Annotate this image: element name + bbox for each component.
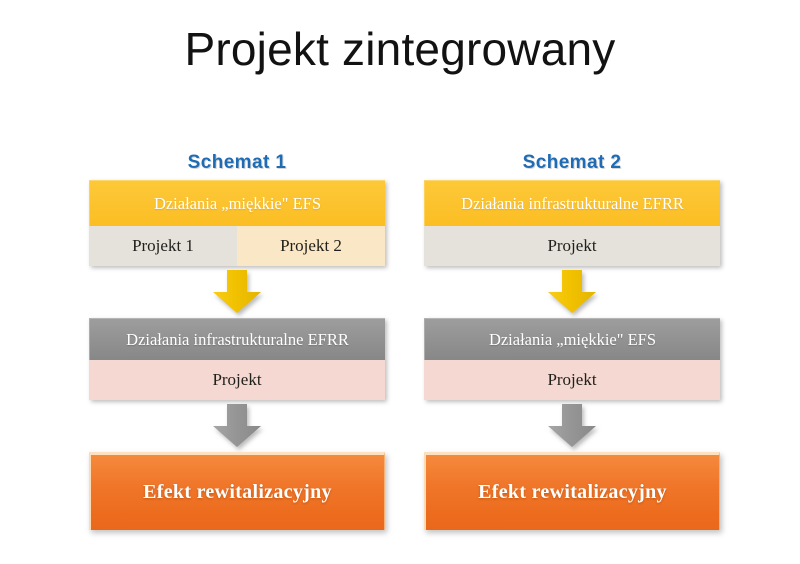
schema-2-arrow-2-wrap [424, 400, 720, 452]
schema-1-heading: Schemat 1 [89, 150, 385, 180]
project-cell: Projekt [424, 226, 720, 266]
schema-2-stage-2: Działania „miękkie" EFS Projekt [424, 318, 720, 400]
schema-1-stage-1-projects: Projekt 1 Projekt 2 [89, 226, 385, 266]
down-arrow-icon [211, 270, 263, 314]
down-arrow-icon [546, 404, 598, 448]
schema-2-stage-1-projects: Projekt [424, 226, 720, 266]
project-cell: Projekt [89, 360, 385, 400]
schema-1-stage-2-action-bar: Działania infrastrukturalne EFRR [89, 318, 385, 360]
schema-2-arrow-1-wrap [424, 266, 720, 318]
schema-1-stage-2: Działania infrastrukturalne EFRR Projekt [89, 318, 385, 400]
schema-column-2: Schemat 2 Działania infrastrukturalne EF… [424, 150, 720, 532]
schema-2-stage-1: Działania infrastrukturalne EFRR Projekt [424, 180, 720, 266]
project-cell: Projekt [424, 360, 720, 400]
schema-1-stage-2-projects: Projekt [89, 360, 385, 400]
page-title: Projekt zintegrowany [0, 22, 800, 76]
schema-2-heading: Schemat 2 [424, 150, 720, 180]
schema-1-result-bar: Efekt rewitalizacyjny [89, 452, 385, 530]
schema-1-result-wrap: Efekt rewitalizacyjny [89, 452, 385, 532]
down-arrow-icon [546, 270, 598, 314]
schema-1-arrow-2-wrap [89, 400, 385, 452]
schema-1-stage-1-action-bar: Działania „miękkie" EFS [89, 180, 385, 226]
schema-1-stage-1: Działania „miękkie" EFS Projekt 1 Projek… [89, 180, 385, 266]
schema-2-stage-2-action-bar: Działania „miękkie" EFS [424, 318, 720, 360]
schema-1-arrow-1-wrap [89, 266, 385, 318]
schema-2-result-bar: Efekt rewitalizacyjny [424, 452, 720, 530]
schema-2-stage-1-action-bar: Działania infrastrukturalne EFRR [424, 180, 720, 226]
schema-2-result-wrap: Efekt rewitalizacyjny [424, 452, 720, 532]
project-cell: Projekt 2 [237, 226, 385, 266]
schema-2-stage-2-projects: Projekt [424, 360, 720, 400]
schema-column-1: Schemat 1 Działania „miękkie" EFS Projek… [89, 150, 385, 532]
down-arrow-icon [211, 404, 263, 448]
project-cell: Projekt 1 [89, 226, 237, 266]
slide-canvas: Projekt zintegrowany Schemat 1 Działania… [0, 0, 800, 564]
